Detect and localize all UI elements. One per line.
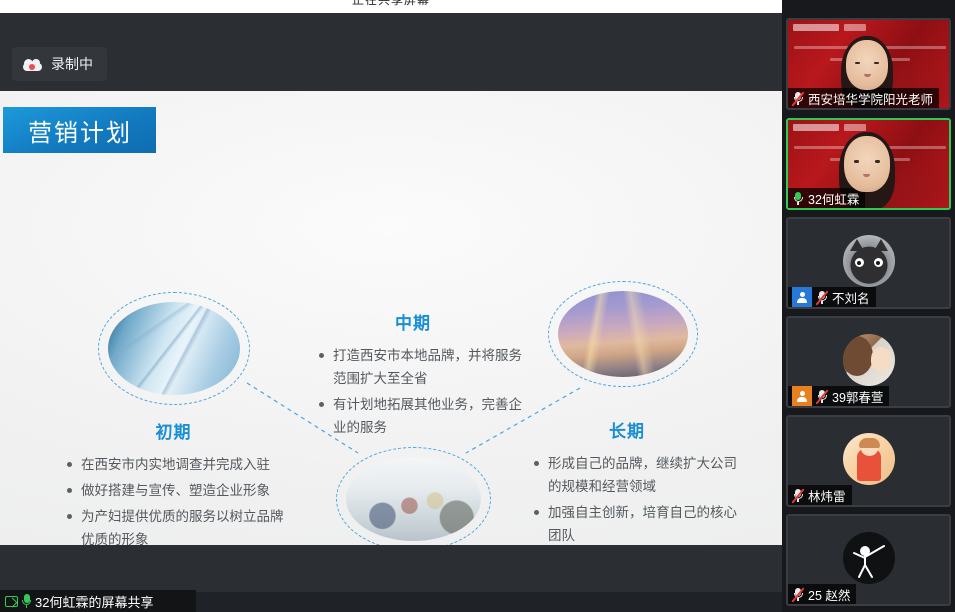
participant-name: 25 赵然	[808, 585, 850, 604]
participant-tile[interactable]: 32何虹霖	[786, 118, 951, 210]
participant-label: 39郭春萱	[788, 386, 889, 406]
participant-name: 39郭春萱	[832, 387, 883, 406]
participant-name: 不刘名	[832, 288, 870, 307]
participant-name: 西安培华学院阳光老师	[808, 89, 933, 108]
stage-column-early: 初期 在西安市内实地调查并完成入驻 做好搭建与宣传、塑造企业形象 为产妇提供优质…	[66, 418, 296, 545]
meeting-screen-share-window: 正在共享屏幕 录制中 营销计划	[0, 0, 955, 612]
participant-label: 西安培华学院阳光老师	[788, 88, 939, 108]
stage-bullets-mid: 打造西安市本地品牌，并将服务范围扩大至全省 有计划地拓展其他业务，完善企业的服务	[318, 344, 533, 439]
glass-building-photo	[98, 292, 250, 405]
participant-name: 32何虹霖	[808, 189, 859, 208]
business-meeting-photo	[336, 447, 491, 545]
list-item: 有计划地拓展其他业务，完善企业的服务	[318, 393, 533, 439]
participant-name: 林炜雷	[808, 486, 846, 505]
list-item: 形成自己的品牌，继续扩大公司的规模和经营领域	[533, 452, 748, 498]
stage-heading-mid: 中期	[318, 309, 508, 334]
mic-muted-icon	[816, 290, 828, 305]
participant-avatar	[843, 235, 895, 287]
participant-label: 林炜雷	[788, 485, 852, 505]
participant-label: 32何虹霖	[788, 188, 865, 208]
participant-face	[846, 40, 888, 90]
participant-tile[interactable]: 西安培华学院阳光老师	[786, 18, 951, 110]
list-item: 为产妇提供优质的服务以树立品牌优质的形象	[66, 505, 296, 545]
microphone-icon	[22, 594, 31, 608]
participant-avatar	[843, 433, 895, 485]
list-item: 在西安市内实地调查并完成入驻	[66, 453, 296, 476]
list-item: 加强自主创新，培育自己的核心团队	[533, 501, 748, 545]
mic-muted-icon	[816, 389, 828, 404]
participant-face	[844, 136, 890, 192]
stage-column-long: 长期 形成自己的品牌，继续扩大公司的规模和经营领域 加强自主创新，培育自己的核心…	[533, 417, 748, 545]
recording-badge: 录制中	[12, 47, 107, 81]
participant-tile[interactable]: 林炜雷	[786, 415, 951, 507]
recording-label: 录制中	[51, 54, 93, 74]
participant-tile[interactable]: 25 赵然	[786, 514, 951, 606]
mic-muted-icon	[792, 91, 804, 106]
top-status-text: 正在共享屏幕	[0, 0, 782, 8]
screen-share-status-bar[interactable]: 32何虹霖的屏幕共享	[0, 590, 196, 612]
stage-bullets-long: 形成自己的品牌，继续扩大公司的规模和经营领域 加强自主创新，培育自己的核心团队 …	[533, 452, 748, 545]
participant-video-panel: 西安培华学院阳光老师 32何虹霖	[782, 0, 955, 612]
mic-on-icon	[792, 191, 804, 206]
participant-tile[interactable]: 39郭春萱	[786, 316, 951, 408]
person-badge-icon	[792, 287, 812, 307]
mic-muted-icon	[792, 587, 804, 602]
participant-avatar	[843, 532, 895, 584]
city-skyline-photo	[548, 281, 698, 387]
cloud-recording-icon	[23, 58, 42, 71]
person-badge-icon	[792, 386, 812, 406]
list-item: 打造西安市本地品牌，并将服务范围扩大至全省	[318, 344, 533, 390]
stage-heading-long: 长期	[533, 417, 721, 442]
participant-label: 25 赵然	[788, 584, 856, 604]
shared-screen-region: 录制中 营销计划 初期 在西安市内实地调查并完	[0, 13, 782, 592]
presentation-slide: 营销计划 初期 在西安市内实地调查并完成入驻 做好搭建与宣传、塑造企业形象	[0, 91, 782, 545]
screen-share-status-label: 32何虹霖的屏幕共享	[35, 592, 153, 611]
top-status-strip: 正在共享屏幕	[0, 0, 782, 13]
list-item: 做好搭建与宣传、塑造企业形象	[66, 479, 296, 502]
participant-tile[interactable]: 不刘名	[786, 217, 951, 309]
stage-heading-early: 初期	[66, 418, 281, 443]
stage-column-mid: 中期 打造西安市本地品牌，并将服务范围扩大至全省 有计划地拓展其他业务，完善企业…	[318, 309, 533, 442]
screen-share-icon	[5, 596, 18, 607]
participant-label: 不刘名	[788, 287, 876, 307]
mic-muted-icon	[792, 488, 804, 503]
stage-bullets-early: 在西安市内实地调查并完成入驻 做好搭建与宣传、塑造企业形象 为产妇提供优质的服务…	[66, 453, 296, 545]
participant-avatar	[843, 334, 895, 386]
